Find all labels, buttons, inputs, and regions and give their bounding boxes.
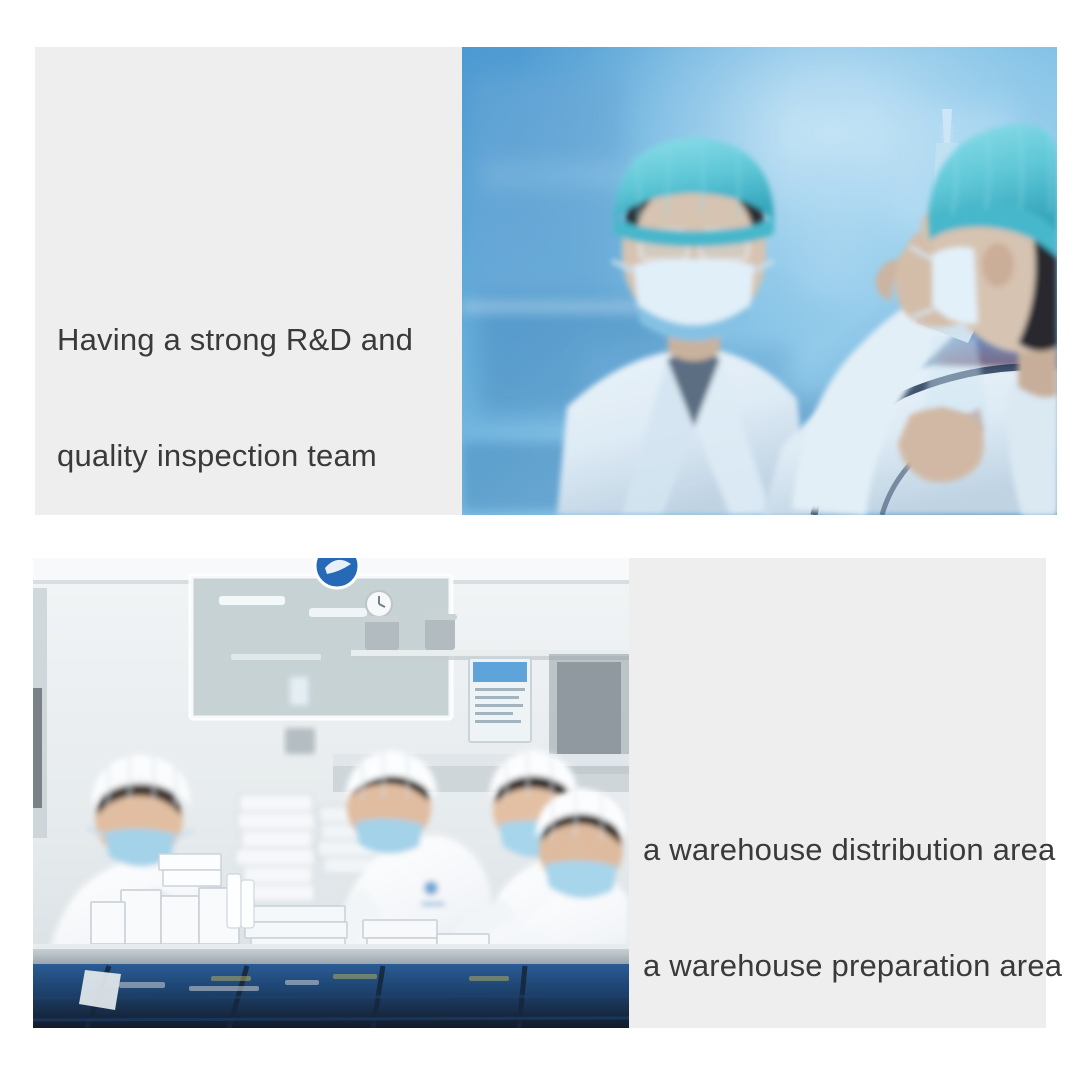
bottom-caption-line-2: a warehouse preparation area <box>643 947 1062 986</box>
top-caption: Having a strong R&D and quality inspecti… <box>57 243 413 553</box>
warehouse-packing-photo <box>33 558 629 1028</box>
page-root: Having a strong R&D and quality inspecti… <box>0 0 1080 1080</box>
warehouse-photo-illustration <box>33 558 629 1028</box>
bottom-caption-line-1: a warehouse distribution area <box>643 831 1062 870</box>
lab-quality-inspection-photo <box>462 47 1057 515</box>
top-caption-line-1: Having a strong R&D and <box>57 321 413 360</box>
bottom-caption: a warehouse distribution area a warehous… <box>643 753 1062 1063</box>
top-caption-line-2: quality inspection team <box>57 437 413 476</box>
lab-photo-illustration <box>462 47 1057 515</box>
